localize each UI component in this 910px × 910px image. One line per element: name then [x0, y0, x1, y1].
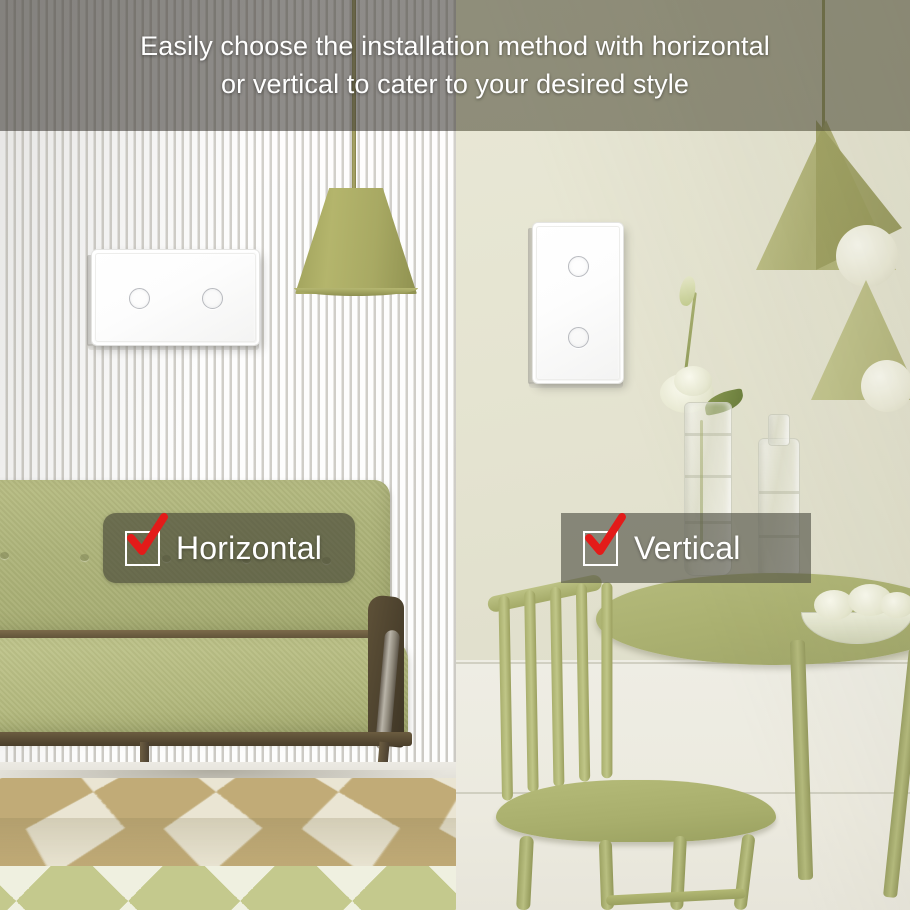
sofa-seat-cushion: [0, 638, 408, 738]
badge-label-vertical: Vertical: [634, 532, 741, 564]
headline-line-2: or vertical to cater to your desired sty…: [221, 71, 689, 98]
checkmark-icon: [580, 511, 628, 559]
touch-button-icon[interactable]: [202, 288, 223, 309]
sofa-tuft-button: [0, 552, 9, 559]
checkmark-icon: [122, 511, 170, 559]
checkbox-vertical[interactable]: [583, 531, 618, 566]
badge-vertical[interactable]: Vertical: [561, 513, 811, 583]
switch-glass-panel: [533, 223, 623, 383]
wall-shadow-right: [456, 0, 910, 910]
switch-glass-panel: [92, 250, 259, 345]
badge-horizontal[interactable]: Horizontal: [103, 513, 355, 583]
touch-button-icon[interactable]: [568, 256, 589, 277]
touch-button-icon[interactable]: [568, 327, 589, 348]
scene-vertical: [456, 0, 910, 910]
switch-bevel: [536, 226, 620, 380]
sofa-tuft-button: [80, 554, 89, 561]
diamond-pattern-rug: [0, 778, 456, 910]
product-feature-image: Easily choose the installation method wi…: [0, 0, 910, 910]
header-text-block: Easily choose the installation method wi…: [0, 0, 910, 131]
headline-line-1: Easily choose the installation method wi…: [140, 33, 770, 60]
scene-horizontal: [0, 0, 456, 910]
badge-label-horizontal: Horizontal: [176, 532, 322, 564]
switch-bevel: [95, 253, 256, 342]
sofa-wood-frame: [0, 732, 412, 746]
touch-button-icon[interactable]: [129, 288, 150, 309]
rug-shadow-band: [0, 818, 456, 870]
checkbox-horizontal[interactable]: [125, 531, 160, 566]
horizontal-wall-switch[interactable]: [92, 250, 259, 345]
vertical-wall-switch[interactable]: [533, 223, 623, 383]
rug-green-tiles: [0, 866, 456, 910]
seat-fabric-texture: [0, 638, 408, 738]
header-banner: Easily choose the installation method wi…: [0, 0, 910, 131]
